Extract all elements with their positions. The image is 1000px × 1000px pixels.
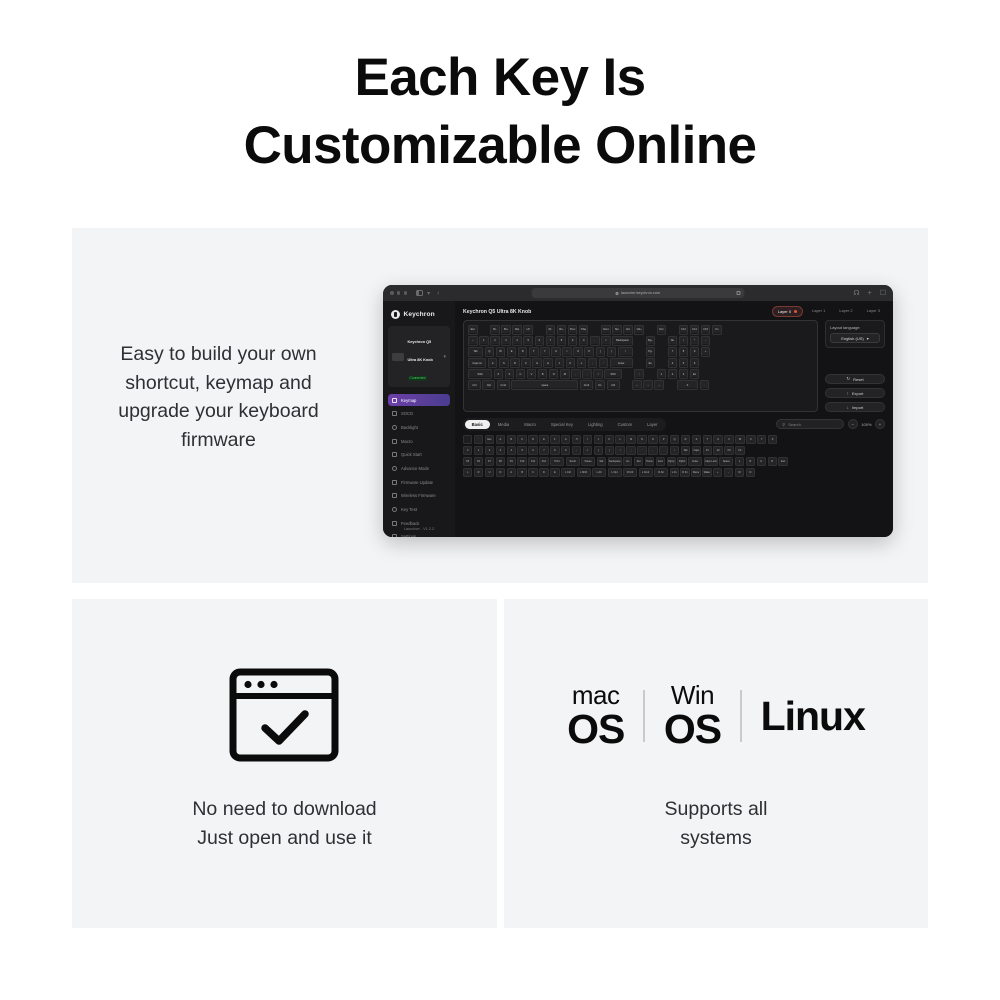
keyboard-key[interactable]: Rr+ [557, 325, 567, 335]
chevron-down-icon[interactable]: ▾ [443, 354, 446, 360]
keyboard-key[interactable]: 4 [512, 336, 522, 346]
keycode-option[interactable]: Pause [581, 457, 595, 466]
keyboard-key[interactable]: / [593, 369, 603, 379]
sidebar-item-advance-mode[interactable]: Advance Mode [388, 462, 450, 474]
keycode-option[interactable]: R Ctrl [623, 468, 637, 477]
keycode-option[interactable]: Wake [702, 468, 711, 477]
reset-button[interactable]: ↻Reset [825, 374, 885, 384]
keyboard-key[interactable]: Opt [482, 380, 495, 390]
keyboard-key[interactable]: 3 [501, 336, 511, 346]
keycode-option[interactable]: Tab [597, 457, 606, 466]
keycode-option[interactable]: 5 [517, 446, 526, 455]
keyboard-key[interactable]: Kn [712, 325, 722, 335]
keycode-option[interactable]: Menu [691, 468, 700, 477]
keycode-option[interactable]: C [528, 468, 537, 477]
keyboard-key[interactable]: Ctrl [468, 380, 481, 390]
sidebar-item-settings[interactable]: Settings [388, 531, 450, 537]
keycode-option[interactable]: O [648, 435, 657, 444]
launcher-app-screenshot: ▾ ‹ launcher.keychron.com ☊ + ☐ Keychron [383, 285, 893, 537]
keyboard-key-label: ~ [472, 339, 474, 342]
keyboard-key[interactable]: Pg- [646, 347, 656, 357]
keycode-option[interactable]: 8 [550, 446, 559, 455]
maximize-icon[interactable] [404, 291, 408, 295]
keyboard-key[interactable]: V [527, 369, 537, 379]
sidebar-item-label: SOCD [401, 411, 413, 416]
keyboard-key[interactable]: G [532, 358, 542, 368]
keyboard-key[interactable]: 0 [677, 380, 699, 390]
keyboard-key[interactable]: Esc [468, 325, 478, 335]
keycode-option[interactable]: B [517, 468, 526, 477]
keycode-option[interactable]: U [713, 435, 722, 444]
keycode-option-label: U [717, 438, 719, 441]
keycode-option-label: G [565, 438, 567, 441]
keyboard-key[interactable]: N [549, 369, 559, 379]
keyboard-key[interactable]: ~ [468, 336, 478, 346]
keyboard-key[interactable]: O [573, 347, 583, 357]
keycode-option-label: F5 [466, 460, 469, 463]
keycode-option-label: F11 [531, 460, 535, 463]
keycode-option[interactable]: Esc [778, 457, 787, 466]
device-selector[interactable]: Keychron Q5 Ultra 8K Knob Connected ▾ [388, 326, 450, 387]
keycode-option[interactable]: ; [626, 446, 635, 455]
keyboard-key[interactable]: Prev [568, 325, 578, 335]
chevron-down-icon[interactable]: ▾ [427, 290, 430, 297]
keyboard-key[interactable]: Cmd [497, 380, 510, 390]
feature-card-launcher-copy: Easy to build your own shortcut, keymap … [96, 340, 341, 454]
keyboard-key[interactable]: Shift [604, 369, 621, 379]
keycode-option[interactable]: F7 [485, 457, 494, 466]
keyboard-key[interactable]: A [488, 358, 498, 368]
page-title-line1: Each Key Is [355, 48, 646, 107]
keycode-option[interactable]: L [463, 468, 472, 477]
keyboard-key[interactable]: Nu [668, 336, 678, 346]
keyboard-key[interactable]: LP [523, 325, 533, 335]
close-icon[interactable] [390, 291, 394, 295]
keyboard-key[interactable]: F15 [701, 325, 711, 335]
keyboard-key-label: 8 [561, 339, 562, 342]
keycode-option-label: Home [646, 460, 653, 463]
keycode-option[interactable]: Backspace [608, 457, 622, 466]
keyboard-key[interactable]: - [590, 336, 600, 346]
keyboard-spacer [666, 380, 676, 390]
keyboard-row: EscBr-Br+MisLPRr-Rr+PrevPlayNextMuVol-Vo… [468, 325, 813, 335]
keycode-option[interactable]: M [735, 468, 744, 477]
sidebar-item-macro[interactable]: Macro [388, 435, 450, 447]
keyboard-key[interactable]: Shift [468, 369, 492, 379]
keyboard-key[interactable]: * [690, 336, 700, 346]
keycode-option[interactable]: F12 [539, 457, 548, 466]
keyboard-key[interactable]: D [510, 358, 520, 368]
keycode-option[interactable]: F1 [703, 446, 712, 455]
keycode-option[interactable]: - [572, 446, 581, 455]
keycode-option[interactable]: A [496, 435, 505, 444]
keycode-option[interactable]: K [605, 435, 614, 444]
keyboard-key[interactable]: R [518, 347, 528, 357]
keycode-option[interactable]: X [746, 435, 755, 444]
keyboard-key[interactable]: 7 [546, 336, 556, 346]
keycode-option[interactable]: ' [637, 446, 646, 455]
keyboard-key[interactable]: = [601, 336, 611, 346]
keycode-option[interactable]: N [746, 468, 755, 477]
tab-media[interactable]: Media [491, 420, 516, 430]
keycode-option[interactable]: D [539, 468, 548, 477]
keyboard-key-label: + [705, 350, 707, 353]
keycode-option[interactable]: A [507, 468, 516, 477]
keycode-option-label: R [750, 460, 752, 463]
keyboard-key[interactable]: 6 [690, 358, 700, 368]
keycode-option[interactable]: F9 [507, 457, 516, 466]
keycode-option[interactable]: M [626, 435, 635, 444]
keyboard-key[interactable]: Q [485, 347, 495, 357]
zoom-out-icon[interactable]: − [848, 419, 858, 429]
page-title-line2: Customizable Online [0, 112, 1000, 180]
keycode-option[interactable]: N [637, 435, 646, 444]
keycode-option[interactable]: J [594, 435, 603, 444]
keycode-option-label: N [641, 438, 643, 441]
keycode-option[interactable]: L [735, 457, 744, 466]
keyboard-key[interactable]: L [577, 358, 587, 368]
keycode-option[interactable]: R Fn [680, 468, 689, 477]
keycode-option[interactable]: F5 [463, 457, 472, 466]
tab-custom[interactable]: Custom [611, 420, 639, 430]
tab-lighting[interactable]: Lighting [581, 420, 610, 430]
keyboard-visual[interactable]: EscBr-Br+MisLPRr-Rr+PrevPlayNextMuVol-Vo… [463, 320, 818, 412]
keycode-option[interactable]: \ [615, 446, 624, 455]
keycode-option[interactable]: R [681, 435, 690, 444]
keycode-option[interactable]: Z [768, 435, 777, 444]
keycode-option[interactable]: S [692, 435, 701, 444]
keyboard-key[interactable]: . [700, 380, 710, 390]
keycode-option[interactable]: [ [594, 446, 603, 455]
keycode-option[interactable]: F8 [496, 457, 505, 466]
keycode-option[interactable]: Esc [485, 435, 494, 444]
keycode-option-label: [ [598, 449, 599, 452]
keyboard-key[interactable]: P [584, 347, 594, 357]
keycode-option[interactable] [463, 435, 472, 444]
keyboard-key[interactable]: 5 [523, 336, 533, 346]
keyboard-key-label: 3 [505, 339, 506, 342]
keycode-option-label: T [707, 438, 709, 441]
keyboard-key[interactable]: / [679, 336, 689, 346]
keyboard-key[interactable]: Br+ [501, 325, 511, 335]
keyboard-key[interactable]: Backspace [612, 336, 633, 346]
keycode-option[interactable]: F4 [735, 446, 744, 455]
keyboard-key-label: 4 [516, 339, 517, 342]
keycode-option[interactable]: G [561, 435, 570, 444]
keycode-option[interactable]: C [517, 435, 526, 444]
keycode-option[interactable]: R Alt [654, 468, 668, 477]
sidebar-item-socd[interactable]: SOCD [388, 408, 450, 420]
keycode-option-label: D [543, 471, 545, 474]
sidebar-item-quick-start[interactable]: Quick Start [388, 449, 450, 461]
keyboard-key[interactable]: Play [579, 325, 589, 335]
keyboard-key[interactable]: Br- [490, 325, 500, 335]
keyboard-key[interactable]: Mis [512, 325, 522, 335]
keycode-option-label: F10 [520, 460, 524, 463]
keyboard-key[interactable]: Vol+ [634, 325, 644, 335]
keycode-option[interactable]: I [583, 435, 592, 444]
back-button-icon[interactable]: ‹ [437, 290, 439, 297]
keyboard-key-label: E [511, 350, 513, 353]
main-header: Keychron Q5 Ultra 8K Knob Layer 0Layer 1… [455, 301, 893, 320]
keycode-option[interactable]: L Ctrl [561, 468, 575, 477]
keycode-option[interactable]: U [757, 457, 766, 466]
keyboard-key[interactable]: \ [618, 347, 633, 357]
keyboard-key[interactable]: W [496, 347, 506, 357]
keycode-option[interactable]: T [703, 435, 712, 444]
keyboard-key[interactable]: Tab [468, 347, 483, 357]
address-bar[interactable]: launcher.keychron.com [532, 288, 745, 298]
keycode-option[interactable]: V [724, 435, 733, 444]
keyboard-key[interactable]: B [538, 369, 548, 379]
keyboard-key[interactable]: Rr- [546, 325, 556, 335]
keyboard-key-label: 8 [683, 350, 684, 353]
plus-icon[interactable]: + [868, 290, 872, 297]
zoom-in-icon[interactable]: + [875, 419, 885, 429]
keycode-option[interactable]: Del [634, 457, 643, 466]
sidebar-item-label: Firmware Update [401, 480, 433, 485]
keyboard-key-label: 0 [687, 384, 688, 387]
sidebar-item-label: Advance Mode [401, 466, 429, 471]
keycode-option[interactable]: Enter [688, 457, 702, 466]
keyboard-key[interactable]: 4 [668, 358, 678, 368]
keycode-option[interactable]: 9 [561, 446, 570, 455]
keyboard-key-label: Prev [570, 328, 575, 331]
layer-tab-layer-2[interactable]: Layer 2 [834, 306, 857, 317]
sidebar-item-keymap[interactable]: Keymap [388, 394, 450, 406]
keyboard-key[interactable]: Y [540, 347, 550, 357]
keyboard-key[interactable]: 2 [490, 336, 500, 346]
keycode-option[interactable]: 1 [474, 446, 483, 455]
sidebar-item-label: Keymap [401, 398, 416, 403]
search-input[interactable]: ⚲ Search [776, 419, 844, 429]
keycode-option[interactable]: 3 [496, 446, 505, 455]
keycode-option[interactable]: Home [645, 457, 654, 466]
keyboard-key-label: Pg- [648, 350, 652, 353]
keyboard-key[interactable]: J [555, 358, 565, 368]
import-button[interactable]: ↓Import [825, 402, 885, 412]
keyboard-title: Keychron Q5 Ultra 8K Knob [463, 309, 531, 315]
keyboard-key[interactable]: Kn [595, 380, 606, 390]
keycode-option[interactable]: H [572, 435, 581, 444]
keycode-option[interactable]: / [670, 446, 679, 455]
keycode-option[interactable]: End [656, 457, 665, 466]
keyboard-key-label: Vol+ [637, 328, 642, 331]
keycode-option[interactable]: E [539, 435, 548, 444]
keycode-option[interactable]: ` [474, 435, 483, 444]
keyboard-key[interactable]: ↑ [634, 369, 644, 379]
keyboard-key[interactable]: [ [596, 347, 606, 357]
keycode-option-label: L Cmd [642, 471, 649, 474]
keycode-option[interactable]: PgDn [677, 457, 686, 466]
sidebar-item-key-test[interactable]: Key Test [388, 504, 450, 516]
launcher-sidebar: Keychron Keychron Q5 Ultra 8K Knob Conne… [383, 301, 455, 537]
keycode-option[interactable]: Caps [692, 446, 701, 455]
keycode-option[interactable]: L Alt [592, 468, 606, 477]
layer-tab-layer-1[interactable]: Layer 1 [807, 306, 830, 317]
sidebar-item-backlight[interactable]: Backlight [388, 421, 450, 433]
keycode-option-label: = [587, 449, 588, 452]
keycode-option-label: F12 [542, 460, 546, 463]
keyboard-key[interactable]: - [701, 336, 711, 346]
keycode-option[interactable]: F3 [724, 446, 733, 455]
keyboard-key[interactable]: Mu [612, 325, 622, 335]
keycode-option[interactable]: 2 [485, 446, 494, 455]
keycode-option[interactable]: Q [670, 435, 679, 444]
keyboard-key[interactable]: 1 [479, 336, 489, 346]
keycode-option[interactable]: D [528, 435, 537, 444]
keyboard-key[interactable]: ; [588, 358, 598, 368]
keyboard-key[interactable]: K [566, 358, 576, 368]
keycode-option[interactable]: P [659, 435, 668, 444]
keyboard-key[interactable]: , [571, 369, 581, 379]
keycode-option[interactable]: D [768, 457, 777, 466]
share-icon[interactable]: ☊ [853, 289, 859, 297]
keycode-option[interactable]: Scroll [566, 457, 580, 466]
keyboard-key-label: I [567, 350, 568, 353]
keycode-picker[interactable]: `EscABCDEFGHIJKLMNOPQRSTUVWXYZ0123456789… [463, 435, 885, 537]
keyboard-key[interactable]: U [551, 347, 561, 357]
keyboard-key[interactable]: Z [494, 369, 504, 379]
keyboard-key[interactable]: Vol- [623, 325, 633, 335]
keycode-option[interactable]: + [713, 468, 722, 477]
refresh-icon[interactable] [737, 291, 741, 295]
sidebar-item-firmware-update[interactable]: Firmware Update [388, 476, 450, 488]
keycode-option[interactable]: L Fn [670, 468, 679, 477]
keyboard-key[interactable]: E [507, 347, 517, 357]
keycode-option[interactable]: 0 [463, 446, 472, 455]
keyboard-key[interactable]: 3 [679, 369, 689, 379]
keyboard-key[interactable]: 5 [679, 358, 689, 368]
keycode-option[interactable]: 6 [528, 446, 537, 455]
keyboard-key[interactable]: + [701, 347, 711, 357]
keycode-option[interactable]: 4 [507, 446, 516, 455]
keycode-option[interactable]: 7 [539, 446, 548, 455]
keyboard-key[interactable]: En [646, 358, 656, 368]
keyboard-key[interactable]: Caps Lk [468, 358, 486, 368]
tabbar-tools: ⚲ Search − 100% + [776, 419, 885, 429]
keycode-option[interactable]: - [724, 468, 733, 477]
keyboard-key[interactable]: Next [601, 325, 611, 335]
window-traffic-lights[interactable] [390, 291, 407, 295]
keyboard-key[interactable]: M [560, 369, 570, 379]
keycode-option[interactable]: Space [719, 457, 733, 466]
keyboard-key[interactable]: 9 [690, 347, 700, 357]
keyboard-key[interactable]: 0 [579, 336, 589, 346]
layer-tab-layer-0[interactable]: Layer 0 [772, 306, 803, 317]
tab-basic[interactable]: Basic [465, 420, 490, 430]
keyboard-key[interactable]: X [505, 369, 515, 379]
keycode-option[interactable]: L [615, 435, 624, 444]
keycode-option[interactable]: B [507, 435, 516, 444]
keyboard-key[interactable]: S [499, 358, 509, 368]
keyboard-key[interactable]: Enter [610, 358, 633, 368]
minimize-icon[interactable] [397, 291, 401, 295]
keyboard-key[interactable]: F [521, 358, 531, 368]
keycode-option[interactable]: . [659, 446, 668, 455]
device-status-badge: Connected [408, 376, 428, 381]
divider [740, 690, 742, 742]
keyboard-key[interactable]: 2 [668, 369, 678, 379]
keycode-option[interactable]: , [648, 446, 657, 455]
sidebar-item-wireless-firmware[interactable]: Wireless Firmware [388, 490, 450, 502]
keycode-option[interactable]: D [496, 468, 505, 477]
keyboard-key[interactable]: space [511, 380, 578, 390]
keycode-option[interactable]: F6 [474, 457, 483, 466]
keyboard-key[interactable]: ← [632, 380, 642, 390]
keyboard-key[interactable]: I [562, 347, 572, 357]
keyboard-key[interactable]: H [543, 358, 553, 368]
keycode-option[interactable]: W [735, 435, 744, 444]
tab-special-key[interactable]: Special Key [544, 420, 580, 430]
keyboard-key[interactable]: Del [657, 325, 667, 335]
keycode-option[interactable]: F [550, 435, 559, 444]
keyboard-key[interactable]: 9 [568, 336, 578, 346]
layout-language-select[interactable]: English (US) ▾ [830, 333, 880, 343]
keycode-option-label: 8 [554, 449, 555, 452]
keyboard-key-label: G [536, 362, 538, 365]
keycode-option[interactable]: F2 [713, 446, 722, 455]
keyboard-key[interactable]: . [582, 369, 592, 379]
tab-overview-icon[interactable]: ☐ [880, 289, 886, 297]
key-test-icon [392, 507, 397, 512]
tab-macro[interactable]: Macro [517, 420, 543, 430]
keyboard-key[interactable]: 6 [535, 336, 545, 346]
keyboard-key[interactable]: ] [607, 347, 617, 357]
keycode-option[interactable]: Caps Lock [704, 457, 718, 466]
keyboard-key[interactable]: Ctrl [607, 380, 620, 390]
keyboard-key[interactable]: Cmd [580, 380, 593, 390]
keyboard-key[interactable]: → [654, 380, 664, 390]
export-button[interactable]: ↑Export [825, 388, 885, 398]
keycode-option[interactable]: PgUp [667, 457, 676, 466]
keycode-option[interactable]: U [485, 468, 494, 477]
keyboard-key[interactable]: T [529, 347, 539, 357]
keyboard-key[interactable]: F13 [679, 325, 689, 335]
sidebar-item-label: Macro [401, 439, 413, 444]
keycode-option[interactable]: R [474, 468, 483, 477]
keycode-option[interactable]: Print [550, 457, 564, 466]
keyboard-key[interactable]: 8 [557, 336, 567, 346]
keycode-option[interactable]: Ins [623, 457, 632, 466]
keyboard-key[interactable]: C [516, 369, 526, 379]
keyboard-key[interactable]: 8 [679, 347, 689, 357]
keyboard-key[interactable]: En [690, 369, 700, 379]
keyboard-key[interactable]: Pg+ [646, 336, 656, 346]
keycode-option[interactable]: Tab [681, 446, 690, 455]
keycode-option[interactable]: = [583, 446, 592, 455]
keyboard-key[interactable]: F14 [690, 325, 700, 335]
keycode-option[interactable]: E [550, 468, 559, 477]
feature-card-no-download [72, 599, 497, 928]
keyboard-key[interactable]: 1 [657, 369, 667, 379]
keycode-option[interactable]: R [746, 457, 755, 466]
keycode-option[interactable]: ] [605, 446, 614, 455]
keycode-option[interactable]: F11 [528, 457, 537, 466]
keycode-option[interactable]: L Opt [608, 468, 622, 477]
keycode-option[interactable]: Y [757, 435, 766, 444]
keycode-option[interactable]: F10 [517, 457, 526, 466]
keyboard-key[interactable]: ' [599, 358, 609, 368]
tab-layer[interactable]: Layer [640, 420, 664, 430]
keycode-option[interactable]: L Cmd [639, 468, 653, 477]
keyboard-key[interactable]: ↓ [643, 380, 653, 390]
sidebar-toggle-icon[interactable] [416, 290, 423, 296]
tab-label: Lighting [588, 422, 603, 427]
layer-tab-layer-3[interactable]: Layer 3 [862, 306, 885, 317]
keycode-option[interactable]: L Shift [577, 468, 591, 477]
keyboard-key[interactable]: 7 [668, 347, 678, 357]
